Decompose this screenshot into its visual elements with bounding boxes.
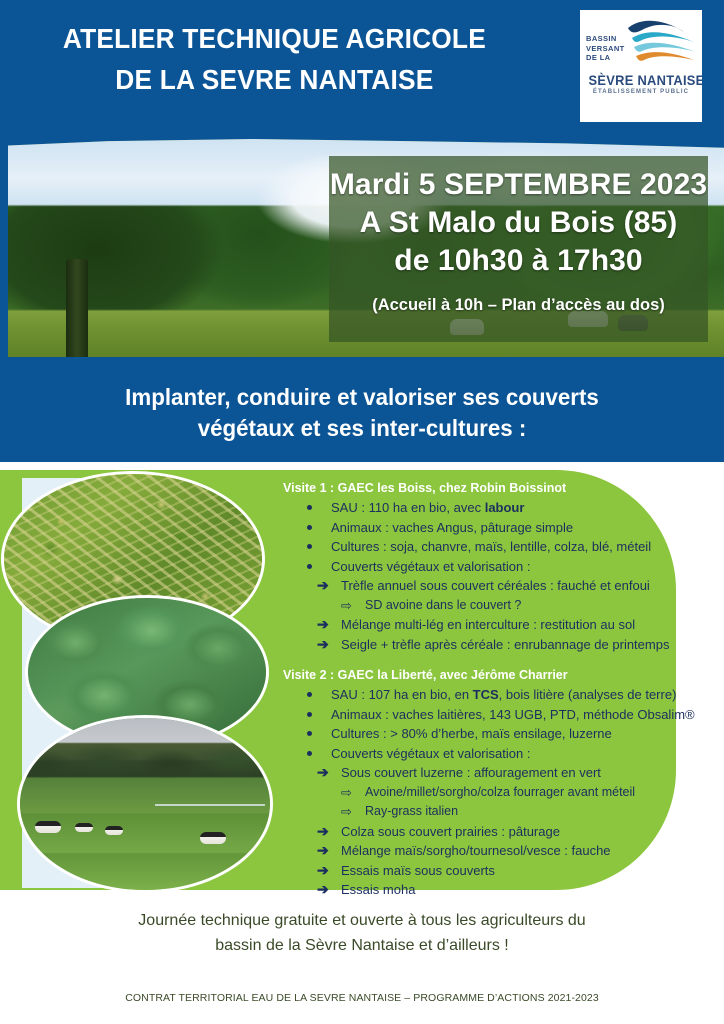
sub-sub-item: ⇨ SD avoine dans le couvert ? <box>283 596 715 616</box>
visit-2-sub-sub-list: ⇨ Avoine/millet/sorgho/colza fourrager a… <box>283 783 715 822</box>
page-title-line-1: ATELIER TECHNIQUE AGRICOLE <box>30 22 519 56</box>
page-title-line-2: DE LA SEVRE NANTAISE <box>30 63 519 97</box>
list-item: Couverts végétaux et valorisation : <box>283 557 715 577</box>
fence-decoration <box>155 804 265 806</box>
sub-item: ➔ Mélange maïs/sorgho/tournesol/vesce : … <box>283 841 715 861</box>
bullet-text: SAU : 107 ha en bio, en <box>331 687 473 702</box>
bullet-dot-icon <box>307 505 312 510</box>
sub-item: ➔ Essais maïs sous couverts <box>283 861 715 881</box>
visit-2-sub-list-cont: ➔ Colza sous couvert prairies : pâturage… <box>283 822 715 900</box>
tree-trunk-decoration <box>66 259 88 357</box>
bullet-text-post: , bois litière (analyses de terre) <box>499 687 677 702</box>
sub-item: ➔ Essais moha <box>283 880 715 900</box>
list-item: Cultures : > 80% d’herbe, maïs ensilage,… <box>283 724 715 744</box>
sub-item: ➔ Seigle + trèfle après céréale : enruba… <box>283 635 715 655</box>
bullet-dot-icon <box>307 692 312 697</box>
sub-item-text: Mélange maïs/sorgho/tournesol/vesce : fa… <box>341 843 611 858</box>
sub-item-text: Trèfle annuel sous couvert céréales : fa… <box>341 578 650 593</box>
visit-1-sub-list: ➔ Trèfle annuel sous couvert céréales : … <box>283 576 715 596</box>
bullet-text: Cultures : > 80% d’herbe, maïs ensilage,… <box>331 726 612 741</box>
sub-item: ➔ Sous couvert luzerne : affouragement e… <box>283 763 715 783</box>
subtitle-text: Implanter, conduire et valoriser ses cou… <box>61 382 662 444</box>
visit-2-bullet-list: SAU : 107 ha en bio, en TCS, bois litièr… <box>283 685 715 763</box>
sub-item: ➔ Mélange multi-lég en interculture : re… <box>283 615 715 635</box>
header-banner: ATELIER TECHNIQUE AGRICOLE DE LA SEVRE N… <box>0 0 724 131</box>
closing-statement: Journée technique gratuite et ouverte à … <box>62 908 662 958</box>
subtitle-line-2: végétaux et ses inter-cultures : <box>198 415 527 441</box>
visits-content: Visite 1 : GAEC les Boiss, chez Robin Bo… <box>283 480 715 900</box>
sub-item-text: Essais maïs sous couverts <box>341 863 495 878</box>
bullet-emphasis: TCS <box>473 687 499 702</box>
event-time: de 10h30 à 17h30 <box>329 242 708 280</box>
list-item: Animaux : vaches laitières, 143 UGB, PTD… <box>283 705 715 725</box>
visit-2-sub-list: ➔ Sous couvert luzerne : affouragement e… <box>283 763 715 783</box>
bullet-text: Animaux : vaches Angus, pâturage simple <box>331 520 573 535</box>
logo-sub-text: ÉTABLISSEMENT PUBLIC <box>584 89 698 95</box>
event-welcome-note: (Accueil à 10h – Plan d’accès au dos) <box>329 296 708 315</box>
sub-sub-item-text: SD avoine dans le couvert ? <box>365 598 521 612</box>
arrow-right-icon: ➔ <box>317 763 329 783</box>
arrow-right-icon: ➔ <box>317 576 329 596</box>
logo-main-text: SÈVRE NANTAISE <box>589 72 694 88</box>
logo-small-text: BASSINVERSANTDE LA <box>586 34 625 63</box>
wave-icon <box>626 18 698 68</box>
sub-item-text: Seigle + trèfle après céréale : enrubann… <box>341 637 669 652</box>
visit-1-sub-sub-list: ⇨ SD avoine dans le couvert ? <box>283 596 715 616</box>
bullet-emphasis: labour <box>485 500 525 515</box>
list-item: Couverts végétaux et valorisation : <box>283 744 715 764</box>
bullet-text: Couverts végétaux et valorisation : <box>331 559 530 574</box>
bullet-dot-icon <box>307 731 312 736</box>
cow-figure <box>200 832 226 844</box>
closing-line-1: Journée technique gratuite et ouverte à … <box>138 912 585 929</box>
bullet-dot-icon <box>307 564 312 569</box>
arrow-right-icon: ➔ <box>317 635 329 655</box>
bullet-text: Animaux : vaches laitières, 143 UGB, PTD… <box>331 707 695 722</box>
list-item: SAU : 110 ha en bio, avec labour <box>283 498 715 518</box>
arrow-right-icon: ➔ <box>317 841 329 861</box>
event-location: A St Malo du Bois (85) <box>329 204 708 242</box>
closing-line-2: bassin de la Sèvre Nantaise et d’ailleur… <box>215 937 509 954</box>
sub-sub-item-text: Avoine/millet/sorgho/colza fourrager ava… <box>365 785 635 799</box>
hero-section: Mardi 5 SEPTEMBRE 2023 A St Malo du Bois… <box>0 131 724 363</box>
arrow-hollow-right-icon: ⇨ <box>341 596 352 616</box>
subtitle-banner: Implanter, conduire et valoriser ses cou… <box>0 363 724 462</box>
sub-sub-item-text: Ray-grass italien <box>365 804 458 818</box>
sub-sub-item: ⇨ Avoine/millet/sorgho/colza fourrager a… <box>283 783 715 803</box>
sub-item: ➔ Colza sous couvert prairies : pâturage <box>283 822 715 842</box>
contract-footer: CONTRAT TERRITORIAL EAU DE LA SEVRE NANT… <box>62 992 662 1004</box>
sub-item-text: Mélange multi-lég en interculture : rest… <box>341 617 635 632</box>
sub-item-text: Sous couvert luzerne : affouragement en … <box>341 765 601 780</box>
cow-figure <box>105 826 123 835</box>
list-item: SAU : 107 ha en bio, en TCS, bois litièr… <box>283 685 715 705</box>
arrow-right-icon: ➔ <box>317 615 329 635</box>
visit-1-bullet-list: SAU : 110 ha en bio, avec labour Animaux… <box>283 498 715 576</box>
arrow-hollow-right-icon: ⇨ <box>341 783 352 803</box>
bullet-text: SAU : 110 ha en bio, avec <box>331 500 485 515</box>
photo-vaches-paturage <box>20 718 270 890</box>
event-date: Mardi 5 SEPTEMBRE 2023 <box>329 166 708 204</box>
list-item: Animaux : vaches Angus, pâturage simple <box>283 518 715 538</box>
visit-1-sub-list-cont: ➔ Mélange multi-lég en interculture : re… <box>283 615 715 654</box>
hedgerow-decoration <box>20 742 270 780</box>
page-title: ATELIER TECHNIQUE AGRICOLE DE LA SEVRE N… <box>30 22 519 97</box>
arrow-right-icon: ➔ <box>317 861 329 881</box>
arrow-hollow-right-icon: ⇨ <box>341 802 352 822</box>
organisation-logo: BASSINVERSANTDE LA SÈVRE NANTAISE ÉTABLI… <box>580 10 702 122</box>
visit-1-heading: Visite 1 : GAEC les Boiss, chez Robin Bo… <box>283 480 715 497</box>
bullet-dot-icon <box>307 751 312 756</box>
subtitle-line-1: Implanter, conduire et valoriser ses cou… <box>125 384 599 410</box>
sub-item-text: Colza sous couvert prairies : pâturage <box>341 824 560 839</box>
bullet-dot-icon <box>307 712 312 717</box>
cow-figure <box>75 823 93 832</box>
visit-2-heading: Visite 2 : GAEC la Liberté, avec Jérôme … <box>283 667 715 684</box>
bullet-text: Couverts végétaux et valorisation : <box>331 746 530 761</box>
bullet-text: Cultures : soja, chanvre, maïs, lentille… <box>331 539 651 554</box>
event-date-box: Mardi 5 SEPTEMBRE 2023 A St Malo du Bois… <box>329 156 708 342</box>
poster-root: ATELIER TECHNIQUE AGRICOLE DE LA SEVRE N… <box>0 0 724 1024</box>
bullet-dot-icon <box>307 525 312 530</box>
sub-item-text: Essais moha <box>341 882 415 897</box>
sub-item: ➔ Trèfle annuel sous couvert céréales : … <box>283 576 715 596</box>
list-item: Cultures : soja, chanvre, maïs, lentille… <box>283 537 715 557</box>
cow-figure <box>35 821 61 833</box>
arrow-right-icon: ➔ <box>317 822 329 842</box>
sub-sub-item: ⇨ Ray-grass italien <box>283 802 715 822</box>
bullet-dot-icon <box>307 544 312 549</box>
arrow-right-icon: ➔ <box>317 880 329 900</box>
